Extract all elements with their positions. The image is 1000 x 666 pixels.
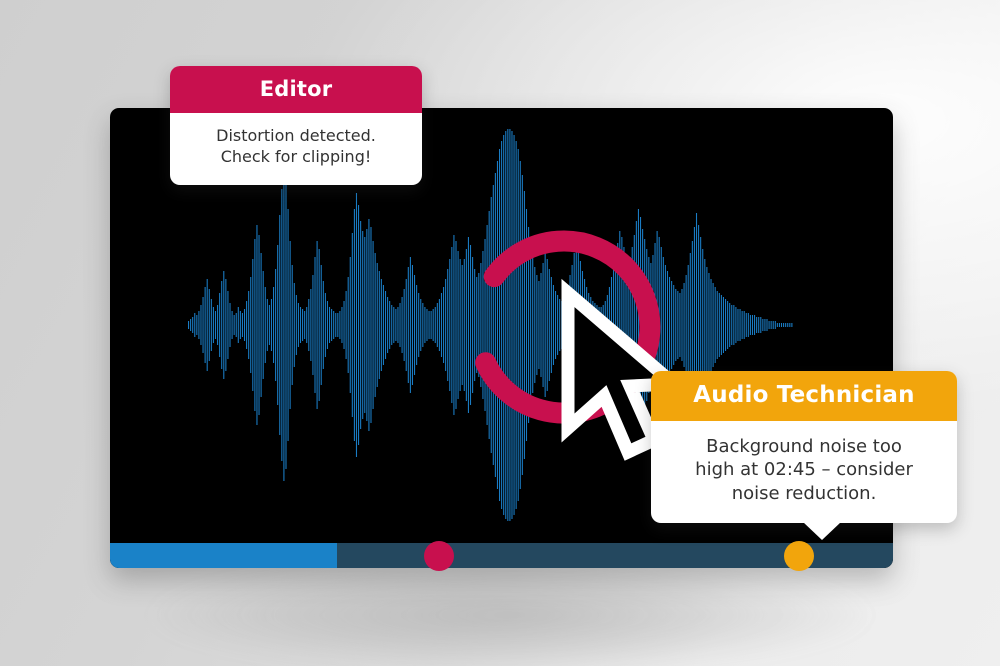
timeline-marker-editor[interactable] xyxy=(424,541,454,571)
callout-technician[interactable]: Audio Technician Background noise too hi… xyxy=(651,371,957,523)
callout-editor-message-line-2: Check for clipping! xyxy=(184,147,408,168)
callout-technician-message-line-3: noise reduction. xyxy=(667,482,941,505)
timeline-marker-technician[interactable] xyxy=(784,541,814,571)
callout-editor[interactable]: Editor Distortion detected. Check for cl… xyxy=(170,66,422,185)
device-drop-shadow xyxy=(150,560,870,666)
callout-editor-role: Editor xyxy=(170,66,422,113)
playback-progress-fill xyxy=(110,543,337,568)
callout-technician-role: Audio Technician xyxy=(651,371,957,421)
callout-editor-message: Distortion detected. Check for clipping! xyxy=(170,113,422,185)
callout-technician-message-line-2: high at 02:45 – consider xyxy=(667,458,941,481)
scene-root: Editor Distortion detected. Check for cl… xyxy=(0,0,1000,666)
playback-progress-bar[interactable] xyxy=(110,543,893,568)
callout-technician-message-line-1: Background noise too xyxy=(667,435,941,458)
callout-technician-tail xyxy=(803,522,841,540)
callout-editor-message-line-1: Distortion detected. xyxy=(184,126,408,147)
callout-technician-message: Background noise too high at 02:45 – con… xyxy=(651,421,957,523)
